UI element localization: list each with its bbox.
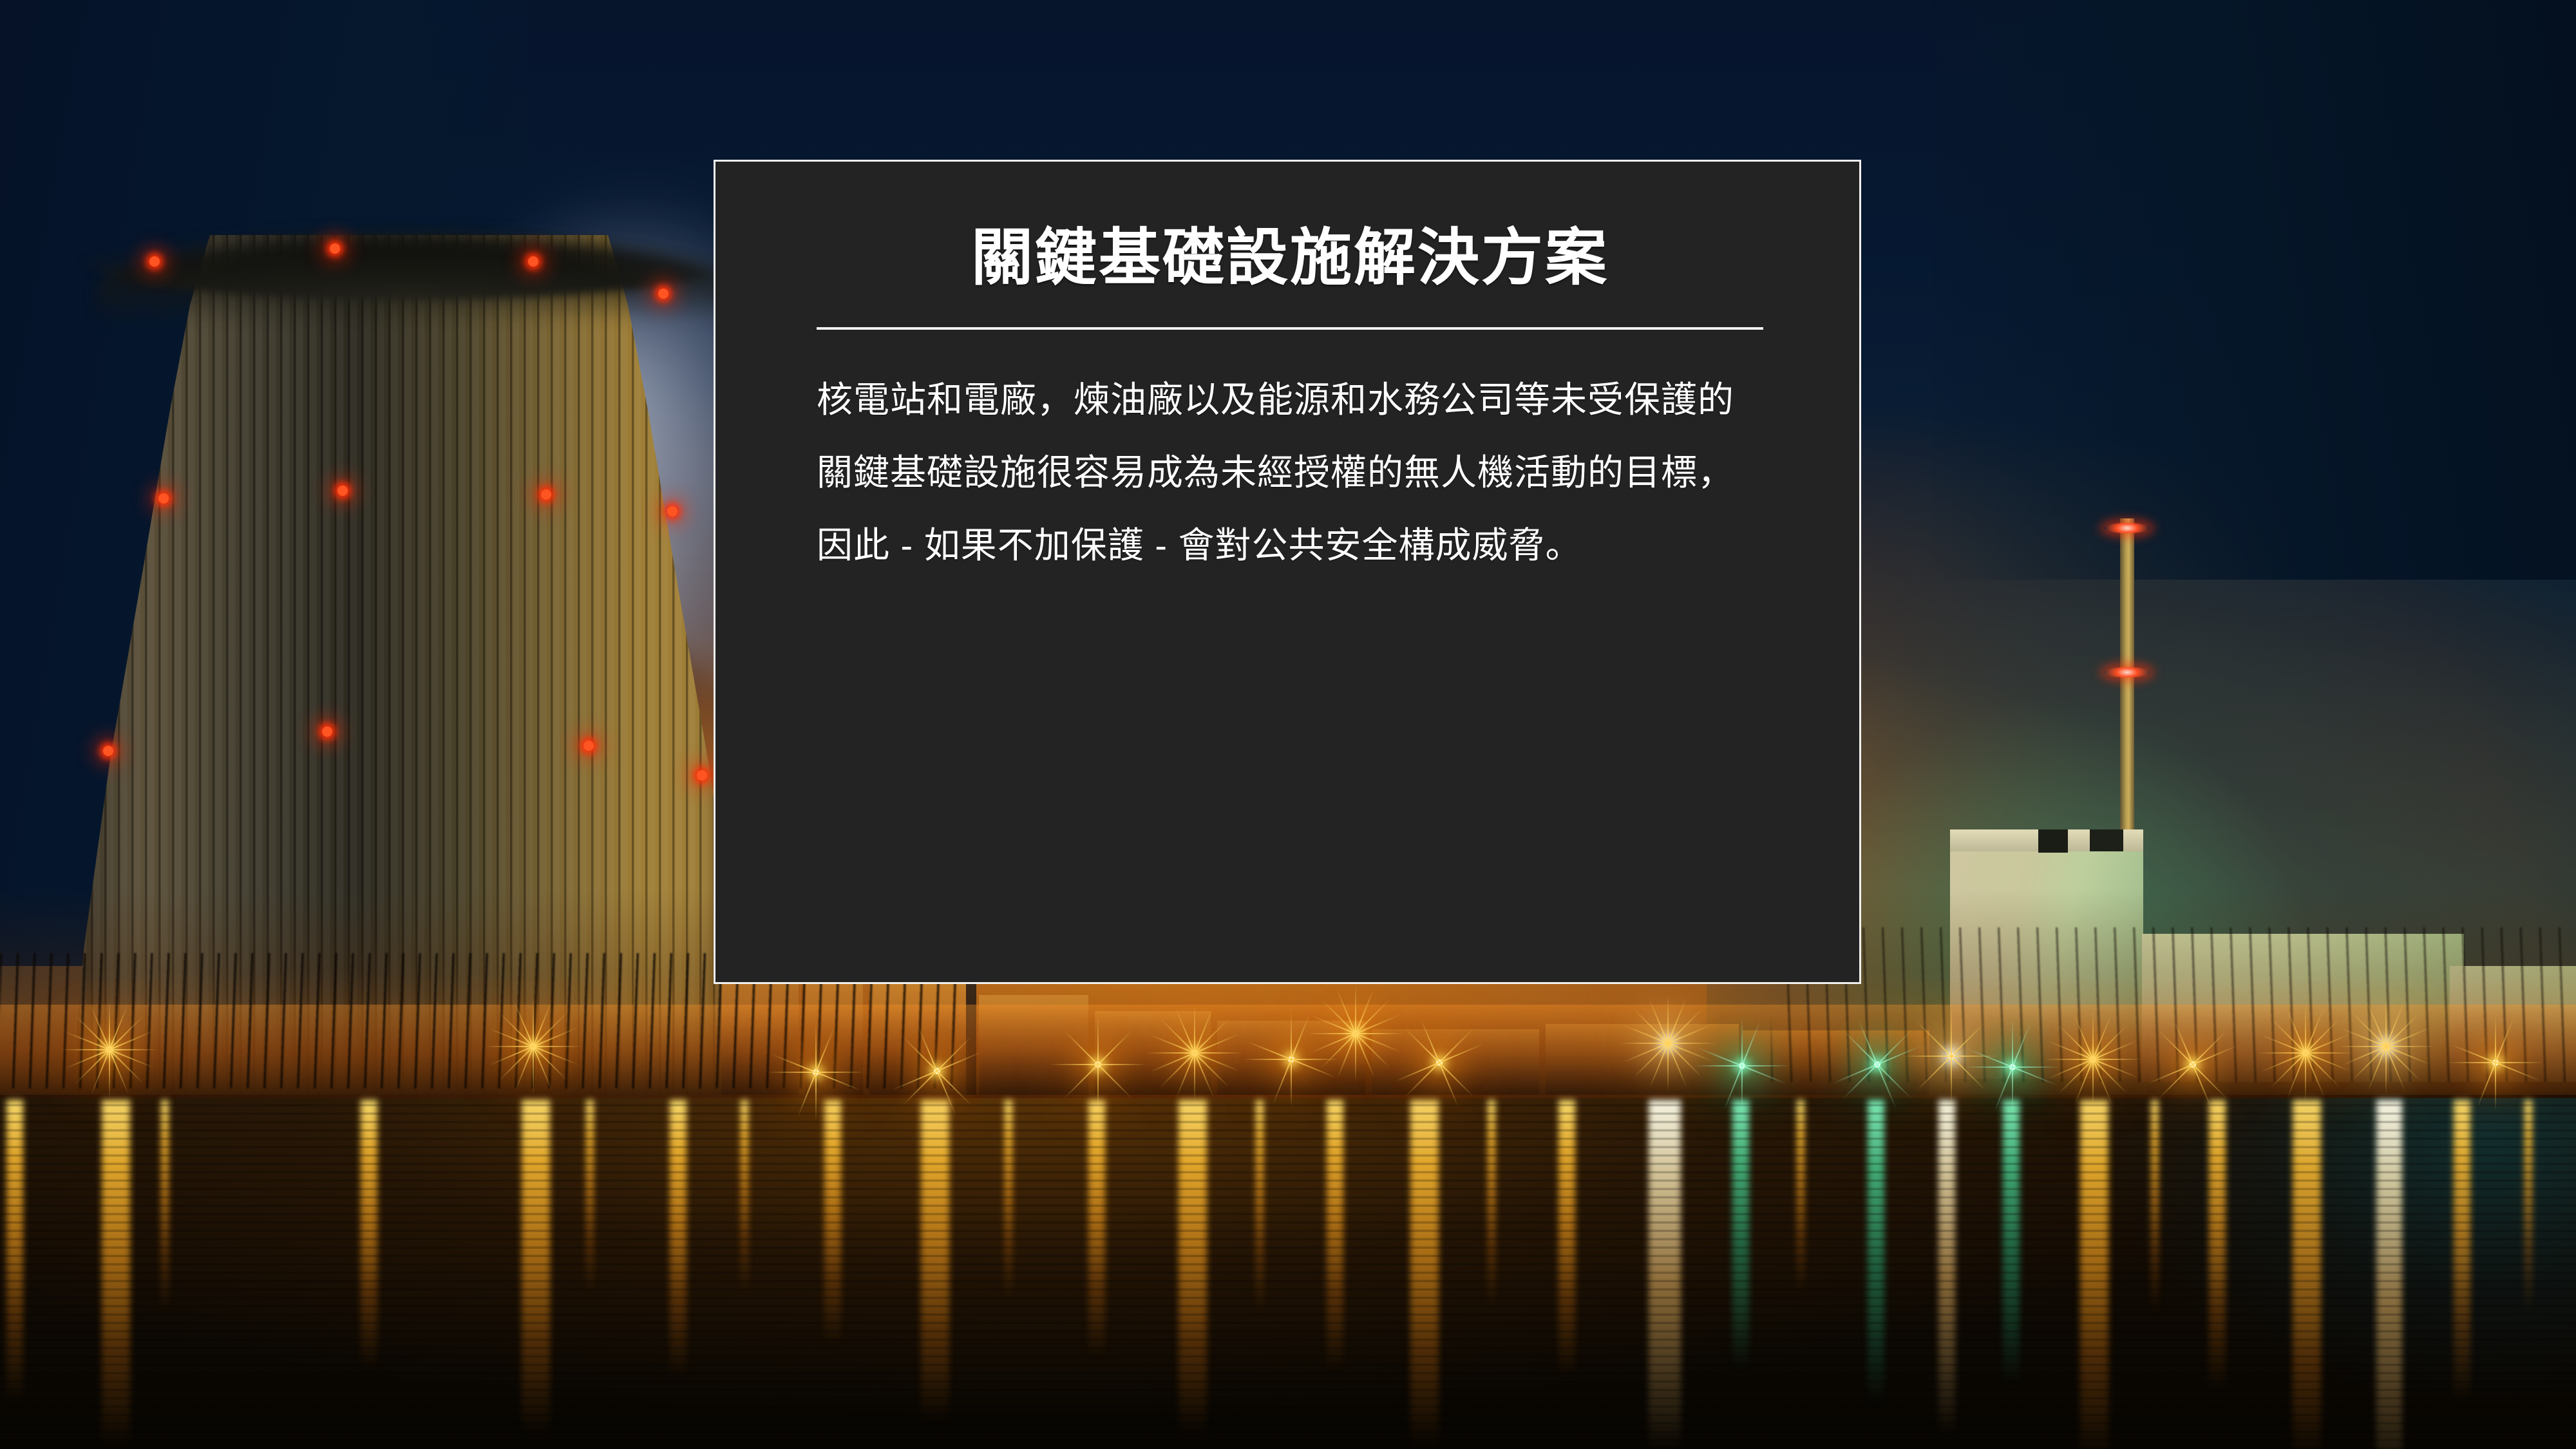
- reactor-roof-notch: [2090, 829, 2123, 851]
- warning-light-red: [667, 506, 677, 516]
- light-reflection: [741, 1100, 748, 1293]
- light-reflection: [2524, 1100, 2532, 1312]
- warning-light-red: [541, 489, 551, 500]
- light-reflection: [921, 1100, 949, 1422]
- light-reflection: [1488, 1100, 1495, 1306]
- light-reflection: [361, 1100, 377, 1370]
- light-reflection: [102, 1100, 130, 1448]
- light-reflection: [1327, 1100, 1343, 1370]
- light-reflection: [824, 1100, 841, 1345]
- stack-warning-ring: [2104, 667, 2150, 677]
- light-reflection: [522, 1100, 550, 1435]
- warning-light-red: [322, 726, 332, 737]
- light-reflection: [2151, 1100, 2159, 1312]
- shore-lamp: [2302, 1050, 2309, 1056]
- light-reflection: [1410, 1100, 1439, 1448]
- slide-canvas: 關鍵基礎設施解決方案 核電站和電廠，煉油廠以及能源和水務公司等未受保護的關鍵基礎…: [0, 0, 2576, 1449]
- shore-lamp: [1191, 1050, 1198, 1056]
- light-reflection: [1088, 1100, 1105, 1358]
- shore-lamp: [2190, 1061, 2196, 1068]
- light-reflection-green: [2003, 1100, 2020, 1383]
- warning-light-red: [697, 770, 707, 781]
- content-card-inner: 關鍵基礎設施解決方案 核電站和電廠，煉油廠以及能源和水務公司等未受保護的關鍵基礎…: [817, 223, 1763, 582]
- shore-lamp: [1095, 1061, 1101, 1068]
- light-reflection: [1179, 1100, 1207, 1435]
- warning-light-red: [330, 243, 340, 254]
- shore-lamp: [934, 1068, 940, 1074]
- shore-lamp: [1948, 1053, 1955, 1059]
- light-reflection: [2376, 1100, 2402, 1449]
- light-reflection: [1649, 1100, 1681, 1449]
- light-reflection: [161, 1100, 169, 1312]
- content-card: 關鍵基礎設施解決方案 核電站和電廠，煉油廠以及能源和水務公司等未受保護的關鍵基礎…: [714, 160, 1861, 984]
- shore-lamp: [2383, 1043, 2389, 1050]
- stack-warning-ring: [2104, 523, 2150, 533]
- shore-lamp: [1436, 1059, 1443, 1066]
- warning-light-red: [337, 486, 348, 496]
- reactor-roof-notch: [2038, 829, 2068, 853]
- warning-light-red: [149, 256, 160, 267]
- light-reflection: [6, 1100, 23, 1403]
- sky-navy-right: [1932, 0, 2576, 580]
- light-reflection-green: [1868, 1100, 1884, 1403]
- light-reflection: [2293, 1100, 2321, 1449]
- shore-lamp: [1352, 1030, 1359, 1037]
- shore-lamp: [813, 1069, 819, 1075]
- light-reflection: [670, 1100, 687, 1377]
- page-title: 關鍵基礎設施解決方案: [817, 223, 1763, 294]
- light-reflection: [1938, 1100, 1955, 1435]
- shore-lamp: [530, 1043, 536, 1050]
- shore-lamp-green: [1874, 1061, 1880, 1068]
- light-reflection: [1558, 1100, 1575, 1377]
- light-reflection: [2209, 1100, 2226, 1390]
- shore-lamp-green: [2009, 1064, 2016, 1070]
- shore-lamp-green: [1739, 1063, 1745, 1069]
- shore-lamp: [1288, 1056, 1294, 1063]
- warning-light-red: [583, 741, 594, 751]
- title-divider: [817, 327, 1763, 330]
- warning-light-red: [528, 256, 538, 267]
- light-reflection: [1797, 1100, 1804, 1293]
- light-reflection: [1256, 1100, 1264, 1312]
- warning-light-red: [658, 289, 668, 299]
- shore-lamp: [1665, 1040, 1671, 1046]
- body-paragraph: 核電站和電廠，煉油廠以及能源和水務公司等未受保護的關鍵基礎設施很容易成為未經授權…: [817, 363, 1763, 582]
- light-reflection: [2080, 1100, 2108, 1449]
- light-reflection-green: [1732, 1100, 1749, 1370]
- shore-lamp: [2090, 1056, 2096, 1063]
- light-reflection: [2454, 1100, 2470, 1403]
- light-reflection: [586, 1100, 594, 1293]
- warning-light-red: [103, 746, 113, 756]
- shore-lamp: [106, 1046, 113, 1053]
- shore-lamp: [2492, 1059, 2499, 1066]
- light-reflection: [1005, 1100, 1012, 1300]
- warning-light-red: [158, 493, 169, 504]
